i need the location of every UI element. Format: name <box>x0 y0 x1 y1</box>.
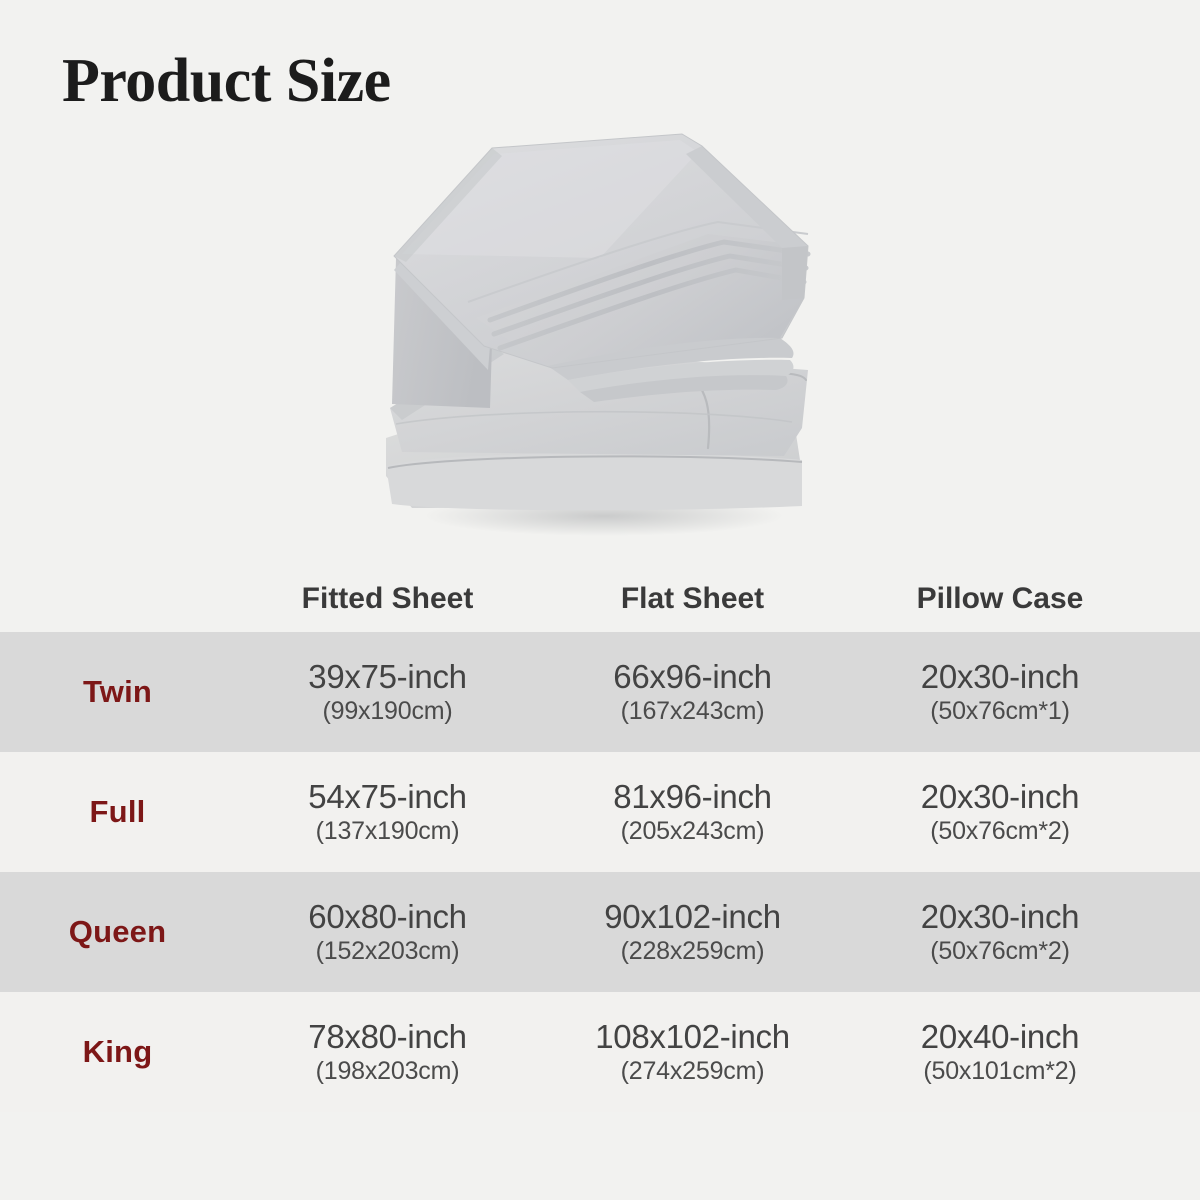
cell-queen-flat-sheet: 90x102-inch (228x259cm) <box>540 872 845 992</box>
size-label-cell-twin: Twin <box>0 632 235 752</box>
product-size-table: Fitted Sheet Flat Sheet Pillow Case Twin… <box>0 566 1200 1112</box>
value-inch: 20x40-inch <box>921 1020 1079 1055</box>
cell-full-flat-sheet: 81x96-inch (205x243cm) <box>540 752 845 872</box>
cell-twin-fitted-sheet: 39x75-inch (99x190cm) <box>235 632 540 752</box>
cell-queen-fitted-sheet: 60x80-inch (152x203cm) <box>235 872 540 992</box>
value-inch: 20x30-inch <box>921 900 1079 935</box>
size-label-queen: Queen <box>69 914 166 949</box>
value-inch: 20x30-inch <box>921 660 1079 695</box>
value-cm: (99x190cm) <box>323 698 453 724</box>
size-label-cell-queen: Queen <box>0 872 235 992</box>
cell-queen-pillow-case: 20x30-inch (50x76cm*2) <box>845 872 1155 992</box>
value-cm: (50x76cm*2) <box>930 938 1070 964</box>
value-cm: (205x243cm) <box>621 818 765 844</box>
value-inch: 90x102-inch <box>604 900 781 935</box>
value-cm: (50x76cm*1) <box>930 698 1070 724</box>
value-inch: 54x75-inch <box>308 780 466 815</box>
size-label-full: Full <box>90 794 146 829</box>
product-image-folded-sheet-set <box>372 108 824 540</box>
cell-spacer <box>1155 632 1200 752</box>
cell-full-pillow-case: 20x30-inch (50x76cm*2) <box>845 752 1155 872</box>
table-row-king: King 78x80-inch (198x203cm) 108x102-inch… <box>0 992 1200 1112</box>
value-inch: 108x102-inch <box>595 1020 790 1055</box>
value-inch: 66x96-inch <box>613 660 771 695</box>
value-cm: (137x190cm) <box>316 818 460 844</box>
size-label-cell-full: Full <box>0 752 235 872</box>
cell-twin-pillow-case: 20x30-inch (50x76cm*1) <box>845 632 1155 752</box>
page-title: Product Size <box>62 50 391 112</box>
column-header-pillow-case: Pillow Case <box>845 566 1155 632</box>
table-row-twin: Twin 39x75-inch (99x190cm) 66x96-inch (1… <box>0 632 1200 752</box>
value-cm: (198x203cm) <box>316 1058 460 1084</box>
column-header-size <box>0 566 235 632</box>
table-row-full: Full 54x75-inch (137x190cm) 81x96-inch (… <box>0 752 1200 872</box>
column-header-flat-sheet: Flat Sheet <box>540 566 845 632</box>
value-inch: 60x80-inch <box>308 900 466 935</box>
value-inch: 20x30-inch <box>921 780 1079 815</box>
column-header-fitted-sheet: Fitted Sheet <box>235 566 540 632</box>
cell-spacer <box>1155 872 1200 992</box>
size-label-cell-king: King <box>0 992 235 1112</box>
cell-twin-flat-sheet: 66x96-inch (167x243cm) <box>540 632 845 752</box>
value-inch: 39x75-inch <box>308 660 466 695</box>
cell-king-flat-sheet: 108x102-inch (274x259cm) <box>540 992 845 1112</box>
table-row-queen: Queen 60x80-inch (152x203cm) 90x102-inch… <box>0 872 1200 992</box>
column-header-spacer <box>1155 566 1200 632</box>
cell-spacer <box>1155 992 1200 1112</box>
table-header-row: Fitted Sheet Flat Sheet Pillow Case <box>0 566 1200 632</box>
size-label-king: King <box>83 1034 153 1069</box>
value-cm: (152x203cm) <box>316 938 460 964</box>
size-label-twin: Twin <box>83 674 152 709</box>
cell-spacer <box>1155 752 1200 872</box>
value-cm: (167x243cm) <box>621 698 765 724</box>
value-cm: (50x76cm*2) <box>930 818 1070 844</box>
value-cm: (274x259cm) <box>621 1058 765 1084</box>
value-inch: 81x96-inch <box>613 780 771 815</box>
value-inch: 78x80-inch <box>308 1020 466 1055</box>
cell-king-fitted-sheet: 78x80-inch (198x203cm) <box>235 992 540 1112</box>
cell-full-fitted-sheet: 54x75-inch (137x190cm) <box>235 752 540 872</box>
cell-king-pillow-case: 20x40-inch (50x101cm*2) <box>845 992 1155 1112</box>
value-cm: (228x259cm) <box>621 938 765 964</box>
value-cm: (50x101cm*2) <box>923 1058 1076 1084</box>
